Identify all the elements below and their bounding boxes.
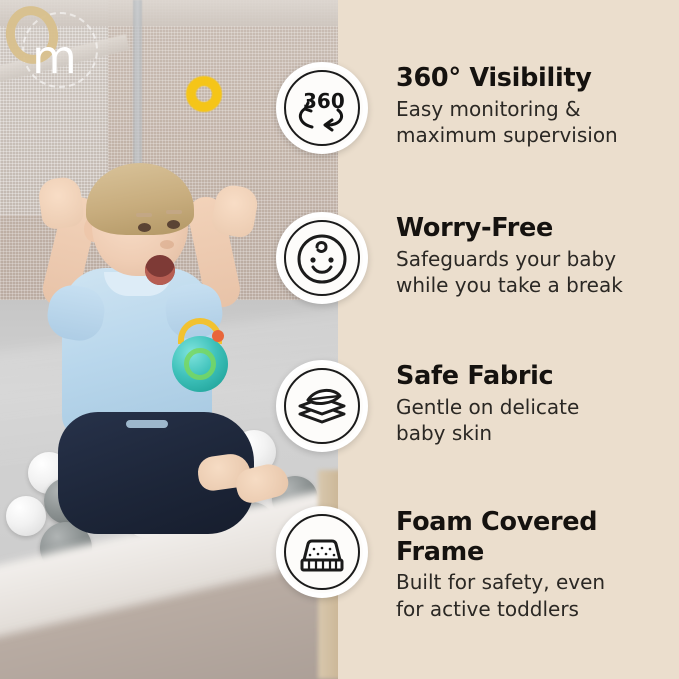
baby-eye: [138, 223, 151, 232]
ball-pit-ball: [6, 496, 46, 536]
toy-bead: [212, 330, 224, 342]
baby-eyebrow: [136, 213, 152, 217]
teal-ball-toy: [172, 336, 228, 392]
feature-description: Built for safety, even for active toddle…: [396, 569, 605, 622]
feature-title: Worry-Free: [396, 214, 623, 244]
playpen-corner-post: [133, 0, 142, 178]
feature-item-safe-fabric: Safe Fabric Gentle on delicate baby skin: [276, 360, 676, 452]
feature-text-block: Safe Fabric Gentle on delicate baby skin: [396, 360, 579, 446]
feature-item-360-visibility: 360 ° 360° Visibility Easy monitoring & …: [276, 62, 676, 154]
feature-title: Safe Fabric: [396, 362, 579, 392]
baby-eye: [167, 220, 180, 229]
feature-text-block: 360° Visibility Easy monitoring & maximu…: [396, 62, 618, 148]
feature-title: 360° Visibility: [396, 64, 618, 94]
brand-watermark: m: [4, 4, 100, 96]
yellow-ring-toy: [186, 76, 222, 112]
360-rotation-icon: 360 °: [276, 62, 368, 154]
baby-waistband: [126, 420, 168, 428]
feature-text-block: Foam Covered Frame Built for safety, eve…: [396, 506, 605, 622]
feature-title: Foam Covered Frame: [396, 508, 605, 567]
feature-description: Gentle on delicate baby skin: [396, 394, 579, 447]
foam-mattress-icon: [276, 506, 368, 598]
baby-mouth: [145, 255, 175, 285]
leaf-fabric-layers-icon: [276, 360, 368, 452]
feature-item-worry-free: Worry-Free Safeguards your baby while yo…: [276, 212, 676, 304]
watermark-letter: m: [32, 34, 76, 80]
baby-face-icon: [276, 212, 368, 304]
product-feature-infographic: m 360 ° 360° Visibility Easy monitoring …: [0, 0, 679, 679]
feature-text-block: Worry-Free Safeguards your baby while yo…: [396, 212, 623, 298]
feature-description: Safeguards your baby while you take a br…: [396, 246, 623, 299]
baby-eyebrow: [166, 210, 182, 214]
feature-description: Easy monitoring & maximum supervision: [396, 96, 618, 149]
feature-item-foam-covered-frame: Foam Covered Frame Built for safety, eve…: [276, 506, 676, 622]
baby-nose: [160, 240, 174, 249]
svg-text:°: °: [338, 93, 343, 104]
